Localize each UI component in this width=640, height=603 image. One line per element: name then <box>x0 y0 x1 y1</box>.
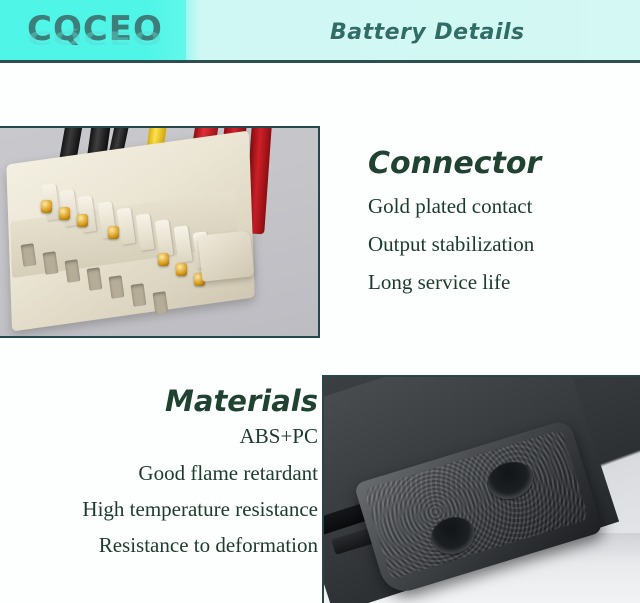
connector-feature: Gold plated contact <box>368 194 640 219</box>
materials-feature: Resistance to deformation <box>0 533 318 558</box>
brand-logo: CQCEO <box>27 12 163 46</box>
connector-latch-tab <box>198 230 255 281</box>
connector-product-photo <box>0 126 320 338</box>
materials-feature: ABS+PC <box>0 424 318 449</box>
connector-section-text: Connector Gold plated contact Output sta… <box>368 148 640 308</box>
connector-feature: Output stabilization <box>368 232 640 257</box>
gold-plated-pin <box>41 200 52 213</box>
connector-heading: Connector <box>368 148 640 180</box>
logo-block: CQCEO CQCEO <box>0 0 186 60</box>
materials-heading: Materials <box>0 386 318 416</box>
page-title: Battery Details <box>330 20 525 45</box>
gold-plated-pin <box>59 207 70 220</box>
materials-feature: Good flame retardant <box>0 461 318 486</box>
gold-plated-pin <box>176 263 187 276</box>
gold-plated-pin <box>108 226 119 239</box>
gold-plated-pin <box>77 214 88 227</box>
materials-product-photo <box>322 375 640 603</box>
gold-plated-pin <box>158 253 169 266</box>
connector-feature: Long service life <box>368 270 640 295</box>
materials-section-text: Materials ABS+PC Good flame retardant Hi… <box>0 386 320 569</box>
page-header: CQCEO CQCEO Battery Details <box>0 0 640 63</box>
materials-feature: High temperature resistance <box>0 497 318 522</box>
